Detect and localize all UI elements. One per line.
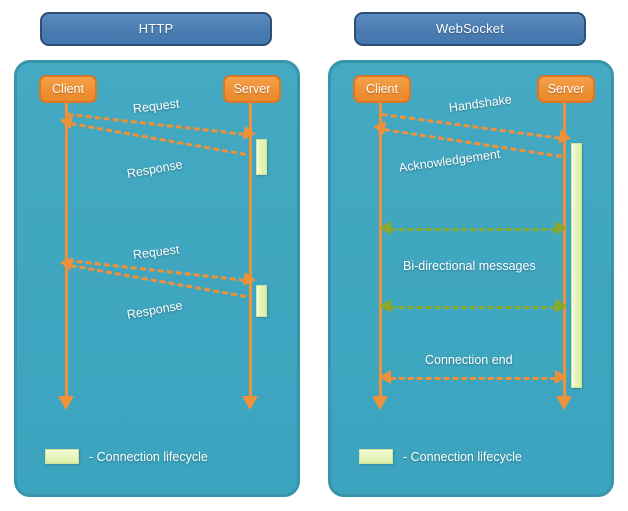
lifeline-client <box>379 103 382 398</box>
arrowhead-left-icon <box>379 299 391 313</box>
arrowhead-right-icon <box>555 221 567 235</box>
legend: - Connection lifecycle <box>45 449 208 464</box>
arrowhead-left-icon <box>379 221 391 235</box>
legend-label: - Connection lifecycle <box>403 450 522 464</box>
actor-client: Client <box>39 75 97 103</box>
message-dash <box>390 228 556 231</box>
panel-canvas-websocket: Handshake Acknowledgement Bi-directional… <box>331 63 611 494</box>
message-label: Request <box>132 242 180 262</box>
legend-label: - Connection lifecycle <box>89 450 208 464</box>
legend-swatch-lifecycle <box>45 449 79 464</box>
message-dash <box>70 122 246 156</box>
lifeline-end-arrow-client <box>58 396 74 410</box>
actor-server: Server <box>537 75 595 103</box>
message-label: Request <box>132 96 180 116</box>
lifecycle-bar <box>256 139 267 175</box>
panel-title-websocket: WebSocket <box>354 12 586 46</box>
arrowhead-right-icon <box>555 370 567 384</box>
message-label: Acknowledgement <box>398 147 501 175</box>
diagram-stage: HTTP Request <box>0 0 628 511</box>
panel-canvas-http: Request Response Request R <box>17 63 297 494</box>
panel-body-websocket: Handshake Acknowledgement Bi-directional… <box>328 60 614 497</box>
arrowhead-right-icon <box>555 299 567 313</box>
panel-body-http: Request Response Request R <box>14 60 300 497</box>
message-label: Response <box>126 157 184 181</box>
lifecycle-bar <box>256 285 267 317</box>
actor-server: Server <box>223 75 281 103</box>
lifeline-end-arrow-server <box>556 396 572 410</box>
legend: - Connection lifecycle <box>359 449 522 464</box>
message-dash <box>68 113 245 136</box>
lifeline-end-arrow-server <box>242 396 258 410</box>
lifeline-client <box>65 103 68 398</box>
panel-http: HTTP Request <box>12 0 302 511</box>
message-dash <box>382 113 561 140</box>
panel-websocket: WebSocket Handshake <box>326 0 616 511</box>
legend-swatch-lifecycle <box>359 449 393 464</box>
panel-title-http: HTTP <box>40 12 272 46</box>
lifeline-server <box>563 103 566 398</box>
lifecycle-bar <box>571 143 582 388</box>
arrowhead-right-icon <box>243 272 256 287</box>
arrowhead-left-icon <box>59 113 73 129</box>
lifeline-server <box>249 103 252 398</box>
message-label: Connection end <box>425 353 513 367</box>
message-dash <box>390 306 556 309</box>
actor-client: Client <box>353 75 411 103</box>
message-label: Handshake <box>448 92 513 115</box>
arrowhead-left-icon <box>372 120 386 136</box>
message-label-bidirectional: Bi-directional messages <box>403 259 536 273</box>
message-arrow <box>68 113 245 133</box>
message-dash <box>390 377 556 380</box>
arrowhead-left-icon <box>59 255 73 271</box>
arrowhead-right-icon <box>559 130 573 145</box>
message-arrow <box>71 122 246 153</box>
arrowhead-left-icon <box>379 370 391 384</box>
message-label: Response <box>126 298 184 322</box>
lifeline-end-arrow-client <box>372 396 388 410</box>
arrowhead-right-icon <box>243 126 256 141</box>
